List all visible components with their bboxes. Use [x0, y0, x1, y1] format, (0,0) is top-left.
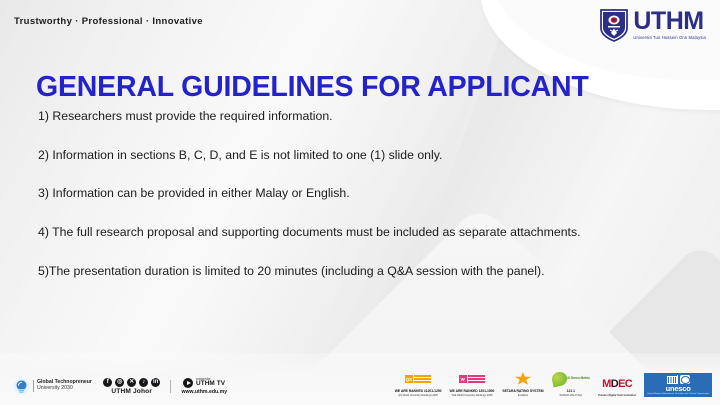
- guideline-item-3: 3) Information can be provided in either…: [38, 185, 680, 202]
- accreditation-badges: QS WE ARE RANKED #1201-1250 QS World Uni…: [395, 371, 712, 397]
- guidelines-list: 1) Researchers must provide the required…: [38, 96, 680, 301]
- global-technopreneur-logo: Global Technopreneur University 2030: [13, 378, 92, 395]
- mdec-wordmark: MDEC: [602, 379, 632, 390]
- greenmetric-badge-subcaption: WORLD MALAYSIA: [560, 394, 582, 397]
- uthm-tv-group: subscribe UTHM TV www.uthm.edu.my: [181, 378, 227, 395]
- the-logo-icon: W: [459, 375, 467, 383]
- footer-divider: [170, 380, 171, 393]
- setara-badge-subcaption: Excellent: [518, 394, 528, 397]
- setara-badge-caption: SETARA RATING SYSTEM: [502, 389, 543, 393]
- uthm-tv-text: subscribe UTHM TV: [196, 378, 225, 388]
- uthm-tv-channel: UTHM TV: [196, 381, 225, 388]
- guideline-item-2: 2) Information in sections B, C, D, and …: [38, 147, 680, 164]
- unesco-logo-box: unesco United Nations Educational, Scien…: [644, 373, 712, 398]
- greenmetric-mark-text: UI Green Metric: [567, 377, 591, 380]
- uthm-word: UTHM: [633, 9, 703, 34]
- lightbulb-icon: [13, 378, 30, 395]
- unesco-globe-icon: [680, 375, 690, 384]
- times-higher-education-badge: W WE ARE RANKED 1201-1500 THE World Univ…: [449, 371, 494, 397]
- unesco-badge: unesco United Nations Educational, Scien…: [644, 373, 712, 398]
- greenmetric-mark: UI Green Metric: [552, 371, 591, 387]
- guideline-item-5: 5)The presentation duration is limited t…: [38, 263, 680, 280]
- slide-tagline: Trustworthy · Professional · Innovative: [14, 16, 203, 27]
- instagram-icon[interactable]: ◎: [115, 378, 125, 388]
- footer-left-group: Global Technopreneur University 2030 f ◎…: [13, 378, 227, 396]
- unesco-subcaption: United Nations Educational, Scientific a…: [647, 393, 709, 395]
- unesco-wordmark: unesco: [666, 385, 691, 393]
- qs-badge-caption: WE ARE RANKED #1201-1250: [395, 389, 442, 393]
- qs-bar-marks: [414, 375, 431, 382]
- setara-star-mark: [515, 371, 531, 387]
- mdec-mark: MDEC: [602, 377, 632, 393]
- leaf-icon: [550, 371, 568, 388]
- linkedin-icon[interactable]: in: [151, 378, 161, 388]
- social-icon-row: f ◎ ✕ ♪ in: [103, 378, 161, 388]
- global-technopreneur-text: Global Technopreneur University 2030: [33, 380, 92, 392]
- the-badge-caption: WE ARE RANKED 1201-1500: [449, 389, 494, 393]
- social-handle: UTHM Johor: [111, 388, 152, 395]
- youtube-play-icon[interactable]: [183, 378, 193, 388]
- guideline-item-4: 4) The full research proposal and suppor…: [38, 224, 680, 241]
- ui-greenmetric-badge: UI Green Metric 121 1 WORLD MALAYSIA: [552, 371, 591, 397]
- uthm-subtitle: Universiti Tun Hussein Onn Malaysia: [633, 36, 706, 41]
- the-bar-marks: [468, 375, 485, 382]
- the-badge-subcaption: THE World University Rankings 2025: [451, 394, 492, 397]
- uthm-wordmark: UTHM Universiti Tun Hussein Onn Malaysia: [633, 9, 706, 40]
- unesco-icon: [667, 375, 690, 384]
- social-media-group: f ◎ ✕ ♪ in UTHM Johor: [103, 378, 161, 396]
- mdec-badge-caption: Premier Digital Tech Institution: [598, 394, 636, 397]
- star-icon: [515, 372, 531, 386]
- x-twitter-icon[interactable]: ✕: [127, 378, 137, 388]
- facebook-icon[interactable]: f: [103, 378, 113, 388]
- presentation-slide: Trustworthy · Professional · Innovative …: [0, 0, 720, 405]
- campaign-line-2: University 2030: [37, 386, 92, 392]
- the-ranking-mark: W: [459, 371, 486, 387]
- qs-badge-subcaption: QS World University Rankings 2025: [398, 394, 438, 397]
- website-url[interactable]: www.uthm.edu.my: [181, 389, 227, 395]
- uthm-tv-row[interactable]: subscribe UTHM TV: [183, 378, 225, 388]
- uthm-logo: UTHM Universiti Tun Hussein Onn Malaysia: [599, 8, 706, 42]
- greenmetric-badge-caption: 121 1: [567, 389, 575, 393]
- setara-rating-badge: SETARA RATING SYSTEM Excellent: [502, 371, 543, 397]
- mdec-badge: MDEC Premier Digital Tech Institution: [598, 377, 636, 398]
- tiktok-icon[interactable]: ♪: [139, 378, 149, 388]
- unesco-temple-icon: [667, 375, 678, 384]
- uthm-crest-icon: [599, 8, 629, 42]
- qs-logo-icon: QS: [405, 375, 413, 383]
- qs-ranking-mark: QS: [405, 371, 432, 387]
- guideline-item-1: 1) Researchers must provide the required…: [38, 108, 680, 125]
- qs-world-ranking-badge: QS WE ARE RANKED #1201-1250 QS World Uni…: [395, 371, 442, 397]
